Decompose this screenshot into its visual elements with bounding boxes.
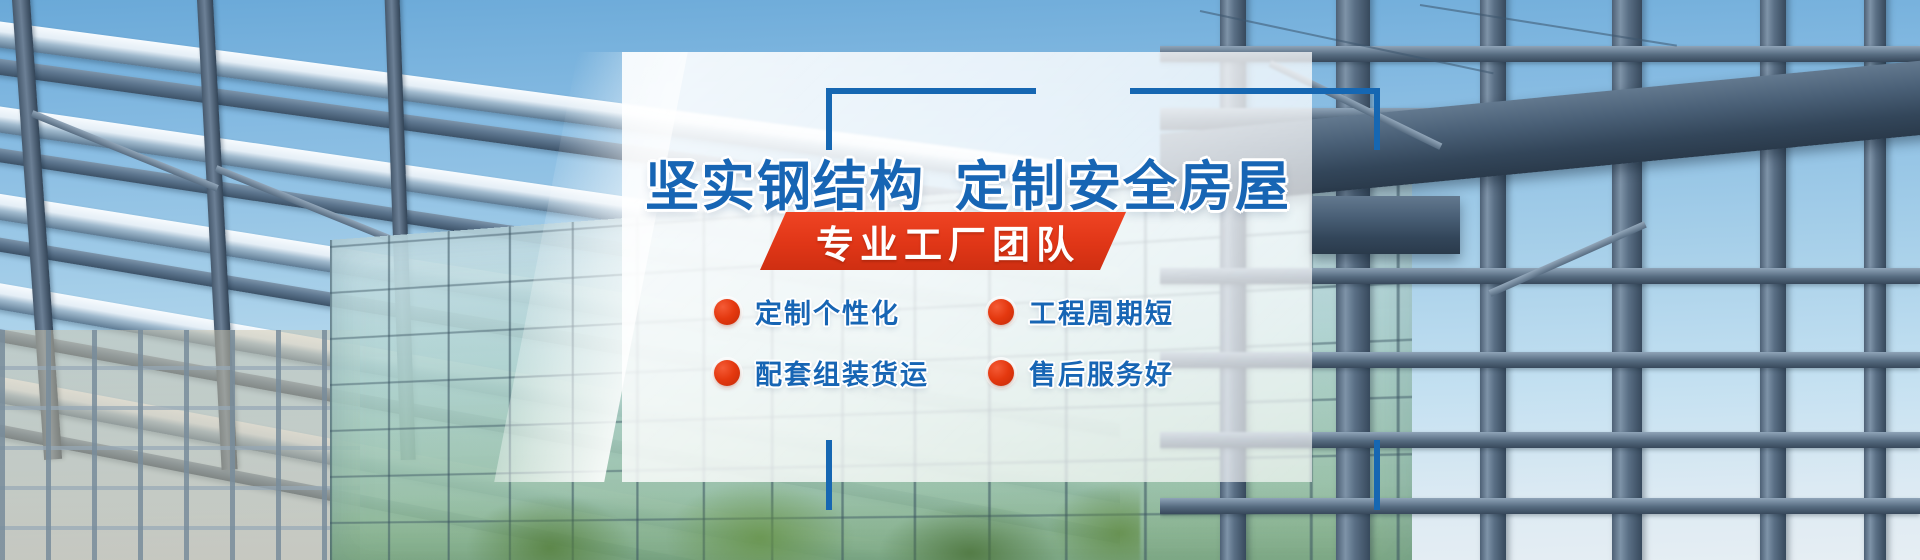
bullet-dot-icon [988,360,1014,386]
bracket-top-right-horizontal [1130,88,1380,94]
feature-label: 定制个性化 [755,292,900,331]
feature-item: 售后服务好 [988,353,1246,392]
bullet-dot-icon [988,299,1014,325]
hero-banner: 坚实钢结构定制安全房屋 专业工厂团队 定制个性化 工程周期短 配套组装货运 售后… [0,0,1920,560]
bracket-bottom-right-vertical [1374,440,1380,510]
headline-part-1: 坚实钢结构 [645,155,925,218]
banner-headline: 坚实钢结构定制安全房屋 [645,142,1325,221]
feature-item: 配套组装货运 [714,353,972,392]
bullet-dot-icon [714,360,740,386]
ribbon-label: 专业工厂团队 [816,214,1080,269]
bullet-dot-icon [714,299,740,325]
feature-list: 定制个性化 工程周期短 配套组装货运 售后服务好 [714,292,1274,392]
feature-item: 定制个性化 [714,292,972,331]
ribbon-tagline: 专业工厂团队 [760,212,1126,270]
feature-item: 工程周期短 [988,292,1246,331]
bracket-top-left-vertical [826,88,832,150]
headline-part-2: 定制安全房屋 [955,155,1291,218]
feature-label: 售后服务好 [1029,353,1174,392]
feature-label: 配套组装货运 [755,353,929,392]
bracket-top-right-vertical [1374,88,1380,150]
bracket-bottom-left-vertical [826,440,832,510]
scaffolding [0,330,360,560]
bracket-top-left-horizontal [826,88,1036,94]
feature-label: 工程周期短 [1029,292,1174,331]
